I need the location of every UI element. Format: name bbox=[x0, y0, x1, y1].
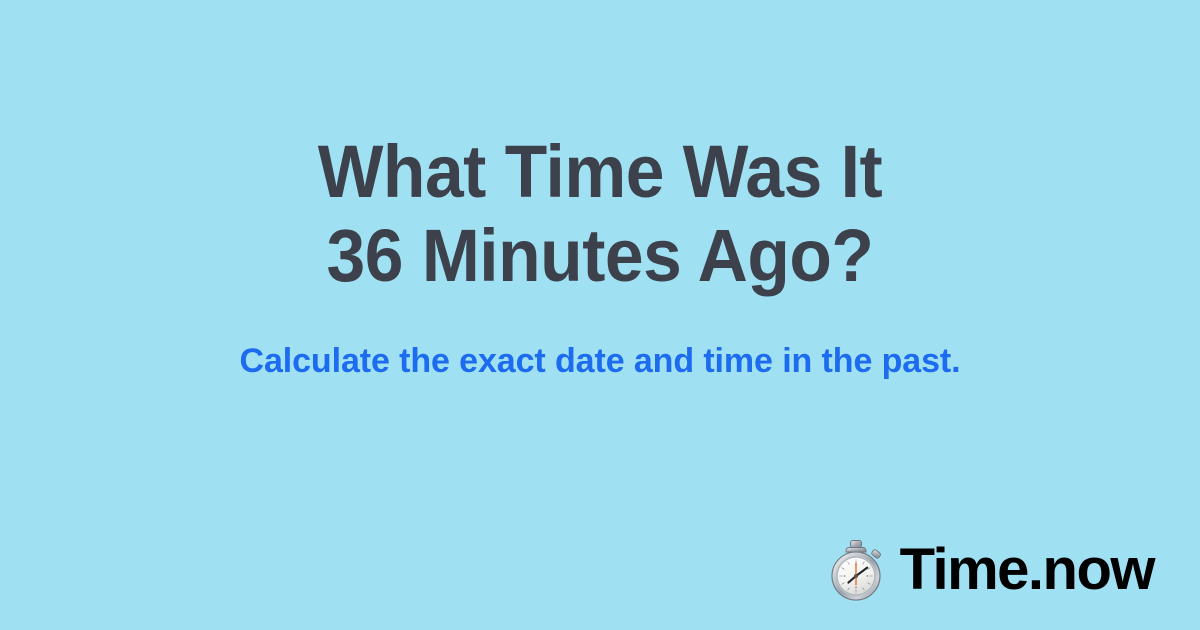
page-title: What Time Was It 36 Minutes Ago? bbox=[0, 130, 1200, 298]
headline-line-1: What Time Was It bbox=[36, 130, 1164, 214]
stopwatch-icon bbox=[826, 538, 886, 602]
headline: What Time Was It 36 Minutes Ago? bbox=[36, 130, 1164, 298]
headline-line-2: 36 Minutes Ago? bbox=[36, 214, 1164, 298]
social-share-card: What Time Was It 36 Minutes Ago? Calcula… bbox=[0, 0, 1200, 630]
brand-logo[interactable]: Time.now bbox=[826, 538, 1154, 602]
subtitle: Calculate the exact date and time in the… bbox=[0, 340, 1200, 382]
brand-name: Time.now bbox=[900, 541, 1154, 599]
